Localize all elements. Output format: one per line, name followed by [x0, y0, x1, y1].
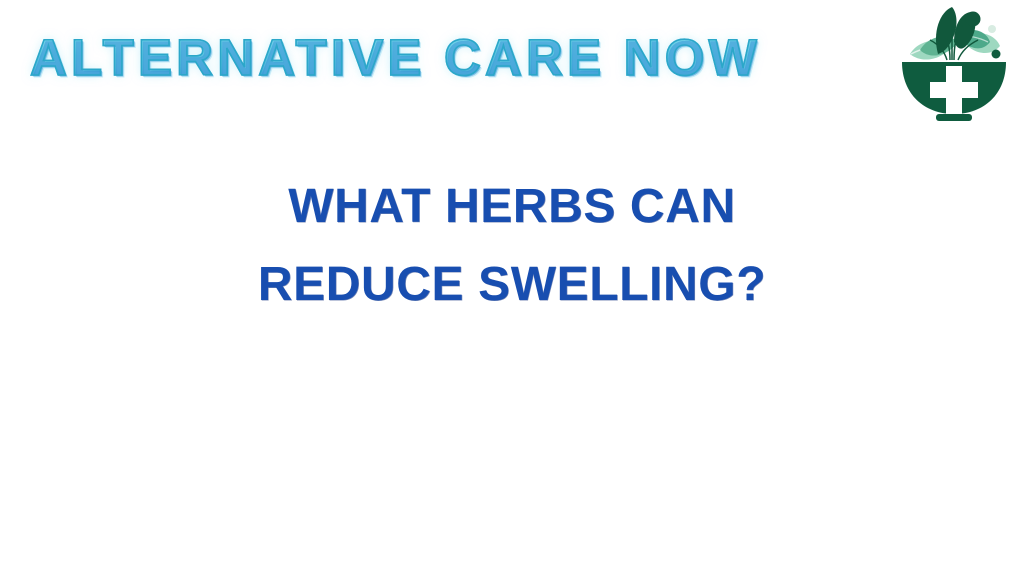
mortar-bowl [902, 62, 1006, 114]
mortar-foot [936, 114, 972, 121]
headline-block: WHAT HERBS CAN REDUCE SWELLING? [0, 176, 1024, 316]
accent-dot-light [988, 25, 996, 33]
accent-dot-dark [992, 50, 1001, 59]
brand-header: ALTERNATIVE CARE NOW [0, 0, 1024, 130]
content-body-empty-area [0, 340, 1024, 576]
brand-title: ALTERNATIVE CARE NOW [30, 28, 761, 88]
headline-line-2: REDUCE SWELLING? [0, 254, 1024, 316]
slide-canvas: ALTERNATIVE CARE NOW [0, 0, 1024, 576]
brand-logo [892, 2, 1016, 126]
headline-line-1: WHAT HERBS CAN [0, 176, 1024, 238]
